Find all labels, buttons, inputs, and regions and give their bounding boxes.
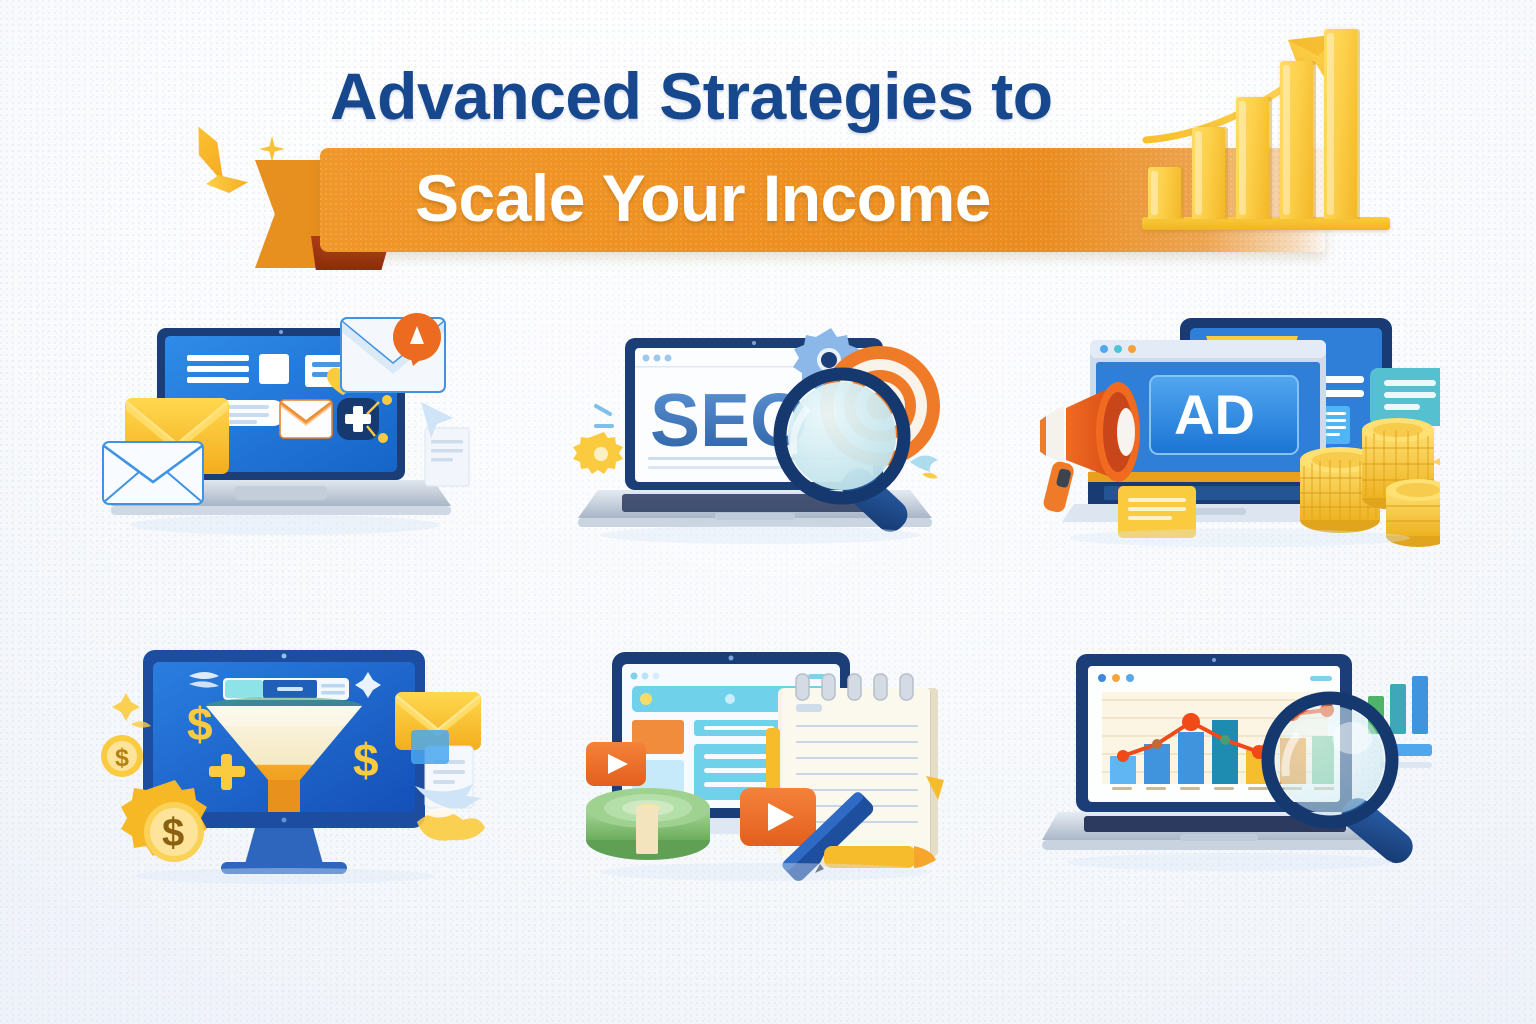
play-button-icon-2 (740, 788, 816, 846)
icon-content-creation (570, 640, 970, 890)
splash-decor (910, 455, 938, 472)
header: Advanced Strategies to Scale Your Income (0, 0, 1536, 300)
banner-subtitle: Scale Your Income (415, 160, 991, 236)
growth-bar-chart (1140, 30, 1400, 230)
growth-bar-5 (1324, 29, 1357, 219)
play-button-icon-1 (586, 742, 646, 786)
monitor-stand (245, 828, 323, 864)
splash-decor (417, 811, 485, 840)
icon-grid: SEO (0, 300, 1536, 920)
sparkle-shard-small-icon (206, 175, 248, 193)
dollar-sign-icon-2: $ (353, 734, 379, 786)
envelope-white-front-icon (103, 442, 203, 504)
gear-icon-yellow (573, 432, 623, 474)
coin-puck-icon (586, 788, 710, 860)
page-title: Advanced Strategies to (330, 58, 1053, 134)
icon-seo: SEO (570, 310, 970, 560)
growth-bar-2 (1192, 127, 1225, 219)
svg-text:$: $ (115, 744, 129, 772)
growth-bar-4 (1280, 61, 1313, 219)
svg-text:$: $ (162, 811, 184, 855)
envelope-white-icon (341, 313, 445, 392)
icon-analytics (1040, 640, 1440, 890)
icon-paid-advertising: AD (1040, 310, 1440, 560)
progress-bar (223, 678, 349, 700)
envelope-orange-icon (280, 400, 332, 438)
dollar-gear-icon: $ (121, 780, 207, 862)
dollar-sign-icon: $ (187, 698, 213, 750)
dollar-coin-icon: $ (101, 735, 143, 777)
growth-bar-3 (1236, 97, 1269, 219)
ad-screen-text: AD (1174, 383, 1255, 446)
icon-email-marketing (95, 310, 495, 560)
icon-sales-funnel: $ $ $ $ (95, 640, 495, 890)
growth-bar-1 (1148, 167, 1181, 219)
